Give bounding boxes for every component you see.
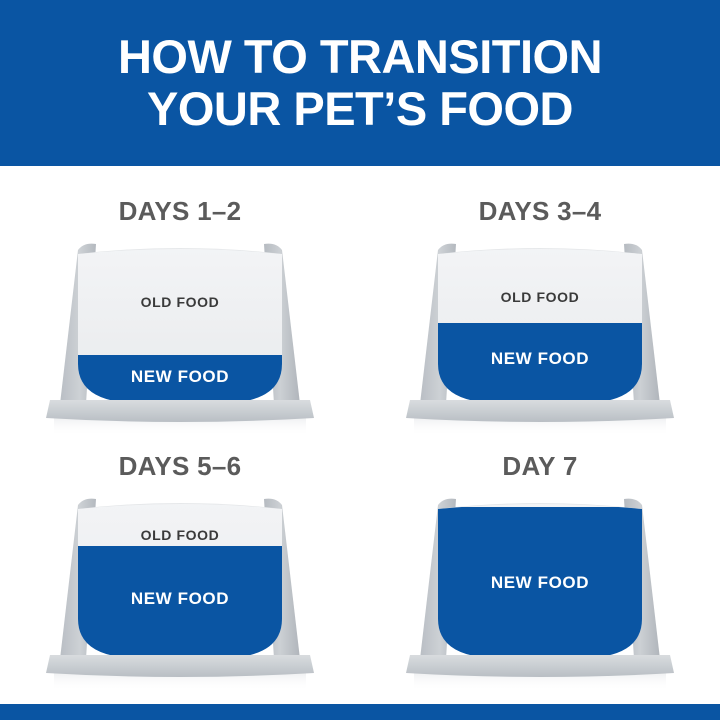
bowl-illustration <box>400 236 680 436</box>
transition-step-panel-1: DAYS 1–2 <box>0 188 360 443</box>
food-bowl-days-3-4: OLD FOOD NEW FOOD <box>400 236 680 436</box>
page-title-line-2: YOUR PET’S FOOD <box>147 83 573 135</box>
step-title-days-5-6: DAYS 5–6 <box>0 451 360 482</box>
step-title-day-7: DAY 7 <box>360 451 720 482</box>
transition-steps-grid: DAYS 1–2 <box>0 166 720 704</box>
header-banner: HOW TO TRANSITION YOUR PET’S FOOD <box>0 0 720 166</box>
bowl-illustration <box>400 491 680 691</box>
food-bowl-day-7: NEW FOOD <box>400 491 680 691</box>
transition-step-panel-2: DAYS 3–4 <box>360 188 720 443</box>
bowl-illustration <box>40 236 320 436</box>
page-title-line-1: HOW TO TRANSITION <box>118 31 602 83</box>
transition-step-panel-3: DAYS 5–6 <box>0 443 360 698</box>
bowl-illustration <box>40 491 320 691</box>
step-title-days-1-2: DAYS 1–2 <box>0 196 360 227</box>
footer-bar <box>0 704 720 720</box>
food-bowl-days-5-6: OLD FOOD NEW FOOD <box>40 491 320 691</box>
transition-step-panel-4: DAY 7 <box>360 443 720 698</box>
step-title-days-3-4: DAYS 3–4 <box>360 196 720 227</box>
food-bowl-days-1-2: OLD FOOD NEW FOOD <box>40 236 320 436</box>
